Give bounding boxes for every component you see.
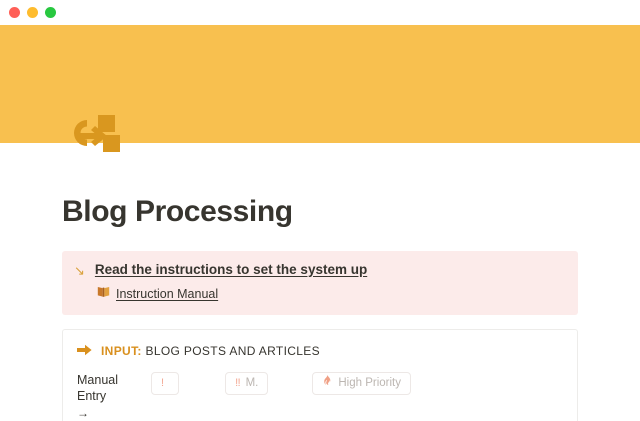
page-title: Blog Processing [62,143,578,230]
close-button[interactable] [9,7,20,18]
badge-slot-1: ! [151,372,179,395]
table-row[interactable]: Manual Entry → ! ‼ M. [63,361,577,421]
traffic-lights [9,7,56,18]
instruction-manual-link[interactable]: Instruction Manual [116,286,218,302]
badge-exclamation[interactable]: ! [151,372,179,395]
minimize-button[interactable] [27,7,38,18]
row-name-text: Manual Entry [77,373,118,403]
badge-high-priority-label: High Priority [338,377,401,390]
window-title-bar [0,0,640,25]
input-keyword: INPUT: [101,344,142,358]
maximize-button[interactable] [45,7,56,18]
exclamation-icon: ! [161,377,164,390]
input-header-label: BLOG POSTS AND ARTICLES [142,344,320,358]
instruction-manual-link-row[interactable]: Instruction Manual [97,285,564,303]
fire-icon [322,375,333,391]
callout-heading-text: Read the instructions to set the system … [95,262,367,278]
badge-high-priority[interactable]: High Priority [312,372,411,395]
row-expand-arrow-icon[interactable]: → [77,405,125,421]
book-icon [97,285,110,303]
page-body: Blog Processing ↘ Read the instructions … [0,143,640,421]
row-badges: ! ‼ M. [125,372,563,395]
down-right-arrow-icon: ↘ [74,262,85,279]
instructions-callout: ↘ Read the instructions to set the syste… [62,251,578,315]
input-section-header-text: INPUT: BLOG POSTS AND ARTICLES [101,344,320,359]
double-exclamation-icon: ‼ [235,377,241,390]
callout-heading-row: ↘ Read the instructions to set the syste… [74,262,564,279]
input-section-card: INPUT: BLOG POSTS AND ARTICLES Manual En… [62,329,578,421]
badge-double-exclamation[interactable]: ‼ M. [225,372,268,395]
input-section-header: INPUT: BLOG POSTS AND ARTICLES [63,343,577,361]
recycle-arrow-squares-icon[interactable] [65,112,123,162]
right-arrow-icon [77,343,92,361]
badge-slot-2: ‼ M. [225,372,268,395]
badge-slot-3: High Priority [312,372,411,395]
row-name-cell[interactable]: Manual Entry → [77,372,125,421]
badge-double-exclamation-label: M. [246,377,259,390]
